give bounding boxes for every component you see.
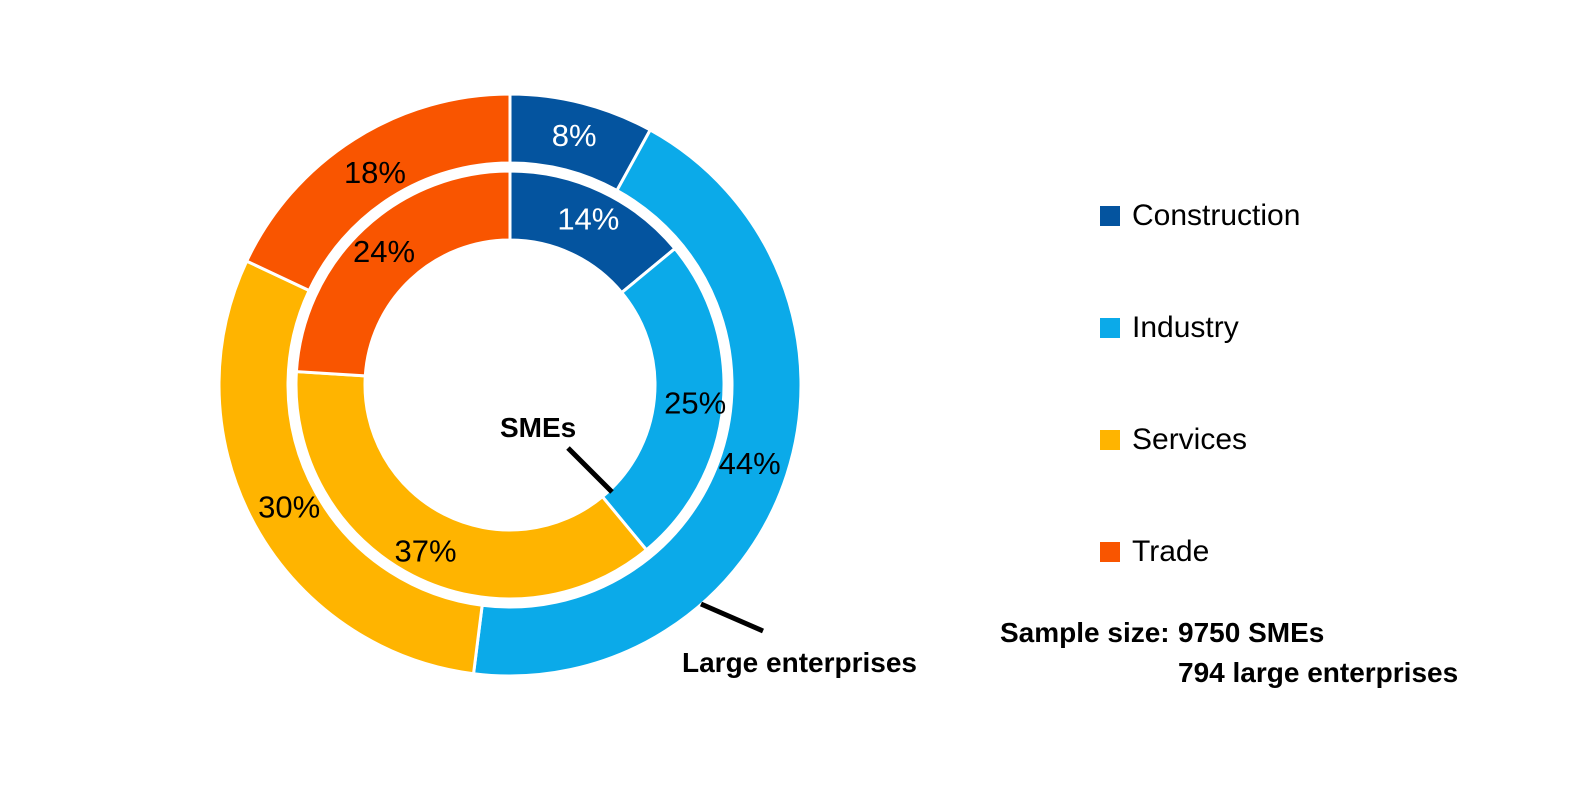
donut-chart-svg: 8% 44% 30% 18% 14% 25% 37% 24% SMEs Larg… [0, 0, 1000, 783]
large-enterprises-callout-label: Large enterprises [682, 647, 917, 678]
smes-callout-label: SMEs [500, 412, 576, 443]
donut-chart: 8% 44% 30% 18% 14% 25% 37% 24% SMEs Larg… [0, 0, 1000, 783]
sample-size-spacer [1000, 653, 1178, 693]
sample-size-label: Sample size: [1000, 613, 1178, 653]
smes-callout: SMEs [500, 412, 612, 492]
large-enterprises-leader-line [701, 604, 763, 631]
inner-label-construction: 14% [557, 202, 619, 237]
legend-swatch-services-icon [1100, 430, 1120, 450]
chart-page: 8% 44% 30% 18% 14% 25% 37% 24% SMEs Larg… [0, 0, 1584, 783]
outer-label-industry: 44% [719, 446, 781, 481]
legend-swatch-construction-icon [1100, 206, 1120, 226]
inner-label-services: 37% [395, 534, 457, 569]
sample-size-row-1: Sample size: 9750 SMEs [1000, 613, 1560, 653]
legend-item-construction[interactable]: Construction [1100, 160, 1520, 272]
large-enterprises-callout: Large enterprises [682, 604, 917, 678]
legend-label-construction: Construction [1132, 201, 1300, 231]
sample-size-value-smes: 9750 SMEs [1178, 613, 1560, 653]
legend-swatch-industry-icon [1100, 318, 1120, 338]
legend-label-industry: Industry [1132, 313, 1239, 343]
legend-label-services: Services [1132, 425, 1247, 455]
outer-label-services: 30% [258, 489, 320, 524]
legend-swatch-trade-icon [1100, 542, 1120, 562]
outer-label-construction: 8% [552, 118, 597, 153]
chart-legend: Construction Industry Services Trade [1100, 160, 1520, 608]
smes-leader-line [568, 448, 612, 492]
legend-item-trade[interactable]: Trade [1100, 496, 1520, 608]
legend-item-services[interactable]: Services [1100, 384, 1520, 496]
legend-label-trade: Trade [1132, 537, 1209, 567]
inner-label-trade: 24% [353, 234, 415, 269]
sample-size-row-2: 794 large enterprises [1000, 653, 1560, 693]
legend-item-industry[interactable]: Industry [1100, 272, 1520, 384]
inner-label-industry: 25% [664, 386, 726, 421]
sample-size-value-large: 794 large enterprises [1178, 653, 1560, 693]
outer-label-trade: 18% [344, 155, 406, 190]
sample-size-note: Sample size: 9750 SMEs 794 large enterpr… [1000, 613, 1560, 693]
